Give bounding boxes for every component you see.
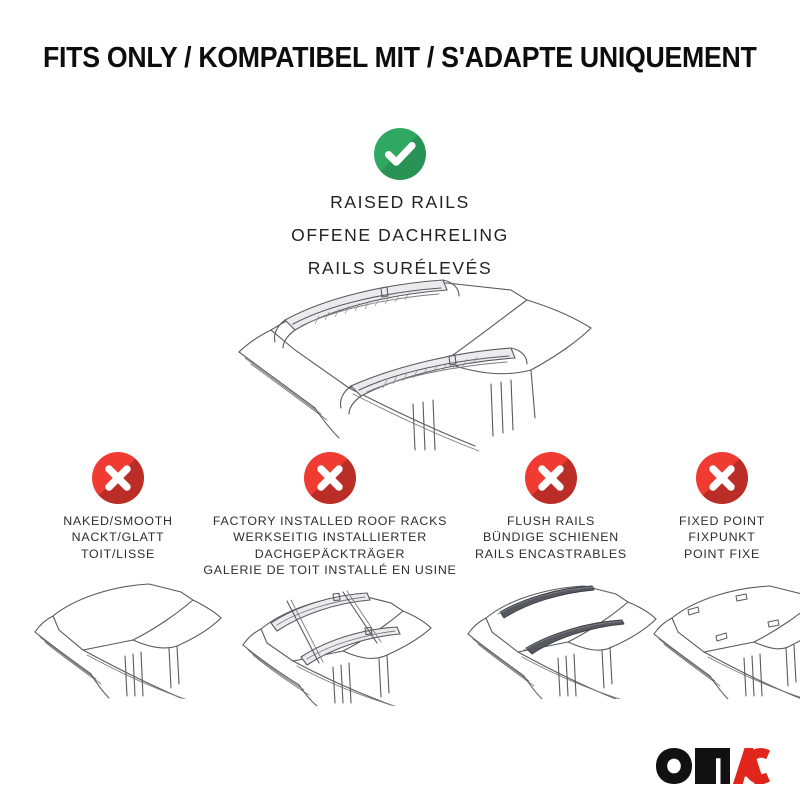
incompatible-caption: FIXED POINT FIXPUNKT POINT FIXE [644,513,800,562]
cross-circle-icon [304,452,356,504]
cross-circle-icon [696,452,748,504]
incompatible-2-line-1: FLUSH RAILS [440,513,662,529]
compatible-section: RAISED RAILS OFFENE DACHRELING RAILS SUR… [0,128,800,279]
check-circle-icon [374,128,426,180]
car-roof-with-raised-rails-illustration [175,278,635,453]
incompatible-0-line-1: NAKED/SMOOTH [8,513,228,529]
page-title-text: FITS ONLY / KOMPATIBEL MIT / S'ADAPTE UN… [43,44,757,73]
incompatible-1-line-3: DACHGEPÄCKTRÄGER [196,546,464,562]
incompatible-item-naked-smooth: NAKED/SMOOTH NACKT/GLATT TOIT/LISSE [8,452,228,699]
incompatible-2-line-2: BÜNDIGE SCHIENEN [440,529,662,545]
incompatible-1-line-1: FACTORY INSTALLED ROOF RACKS [196,513,464,529]
car-roof-naked-smooth-illustration [13,574,223,699]
car-roof-factory-roof-rack-illustration [215,581,445,706]
incompatible-item-fixed-point: FIXED POINT FIXPUNKT POINT FIXE [644,452,800,699]
car-roof-flush-rails-illustration [444,574,659,699]
compatible-line-3: RAILS SURÉLEVÉS [0,257,800,279]
incompatible-3-line-2: FIXPUNKT [644,529,800,545]
incompatible-item-factory-roof-rack: FACTORY INSTALLED ROOF RACKS WERKSEITIG … [196,452,464,706]
incompatible-1-line-4: GALERIE DE TOIT INSTALLÉ EN USINE [196,562,464,578]
logo-letter-o [656,748,692,784]
cross-circle-icon [92,452,144,504]
compatible-line-2: OFFENE DACHRELING [0,224,800,246]
incompatible-item-flush-rails: FLUSH RAILS BÜNDIGE SCHIENEN RAILS ENCAS… [440,452,662,699]
incompatible-caption: FLUSH RAILS BÜNDIGE SCHIENEN RAILS ENCAS… [440,513,662,562]
incompatible-0-line-2: NACKT/GLATT [8,529,228,545]
page-title: FITS ONLY / KOMPATIBEL MIT / S'ADAPTE UN… [0,44,800,73]
omac-logo: OMAC [654,746,772,786]
incompatible-3-line-1: FIXED POINT [644,513,800,529]
logo-letter-c [759,748,770,784]
incompatible-caption: NAKED/SMOOTH NACKT/GLATT TOIT/LISSE [8,513,228,562]
incompatible-3-line-3: POINT FIXE [644,546,800,562]
incompatible-2-line-3: RAILS ENCASTRABLES [440,546,662,562]
incompatible-1-line-2: WERKSEITIG INSTALLIERTER [196,529,464,545]
incompatible-caption: FACTORY INSTALLED ROOF RACKS WERKSEITIG … [196,513,464,579]
incompatible-0-line-3: TOIT/LISSE [8,546,228,562]
car-roof-fixed-point-illustration [632,574,800,699]
compatible-caption: RAISED RAILS OFFENE DACHRELING RAILS SUR… [0,191,800,279]
cross-circle-icon [525,452,577,504]
compatible-line-1: RAISED RAILS [0,191,800,213]
